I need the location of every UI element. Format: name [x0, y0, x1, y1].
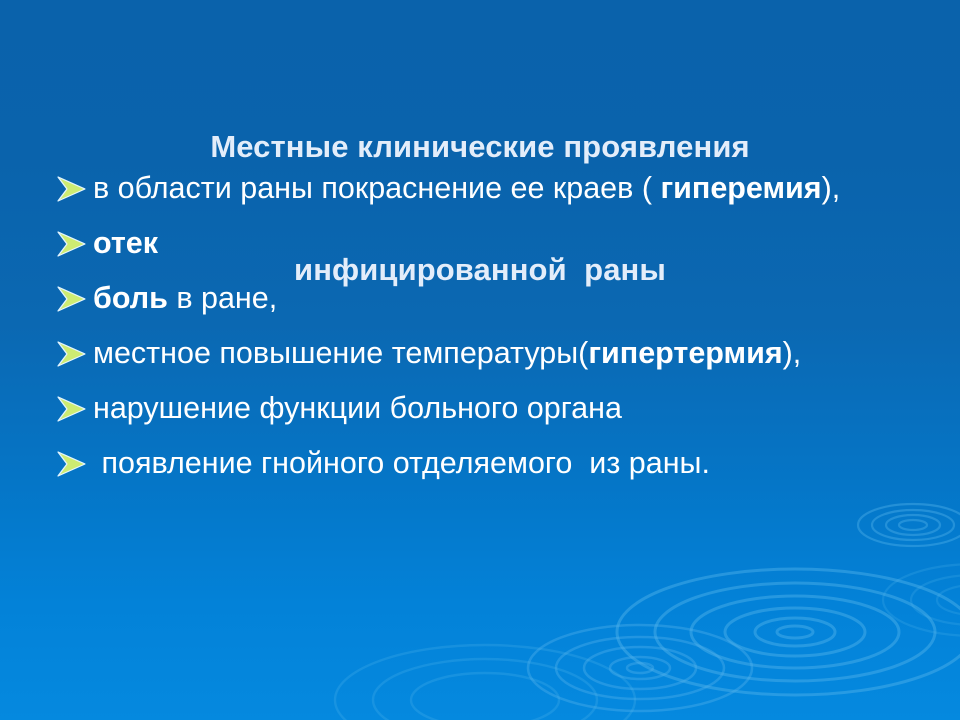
bullet-list-item: появление гнойного отделяемого из раны.: [46, 438, 921, 489]
bullet-emphasis-term: гипертермия: [588, 336, 782, 370]
bullet-list: в области раны покраснение ее краев ( ги…: [46, 163, 921, 493]
bullet-text-run: появление гнойного отделяемого из раны.: [93, 446, 710, 480]
bullet-text-run: в ране,: [168, 281, 277, 315]
bullet-text-run: местное повышение температуры(: [93, 336, 588, 370]
bullet-list-item: отек: [46, 218, 921, 269]
green-arrow-bullet-icon: [56, 175, 86, 203]
bullet-text-run: в области раны покраснение ее краев (: [93, 171, 660, 205]
green-arrow-bullet-icon: [56, 230, 86, 258]
bullet-item-text: местное повышение температуры(гипертерми…: [93, 328, 921, 379]
bullet-emphasis-term: отек: [93, 226, 158, 260]
bullet-text-run: нарушение функции больного органа: [93, 391, 622, 425]
green-arrow-bullet-icon: [56, 450, 86, 478]
bullet-item-text: боль в ране,: [93, 273, 921, 324]
bullet-item-text: отек: [93, 218, 921, 269]
bullet-item-text: нарушение функции больного органа: [93, 383, 921, 434]
bullet-emphasis-term: боль: [93, 281, 168, 315]
green-arrow-bullet-icon: [56, 395, 86, 423]
green-arrow-bullet-icon: [56, 285, 86, 313]
bullet-text-run: ),: [783, 336, 802, 370]
slide-title-line-1: Местные клинические проявления: [60, 126, 900, 167]
green-arrow-bullet-icon: [56, 340, 86, 368]
bullet-list-item: нарушение функции больного органа: [46, 383, 921, 434]
bullet-list-item: местное повышение температуры(гипертерми…: [46, 328, 921, 379]
bullet-item-text: в области раны покраснение ее краев ( ги…: [93, 163, 921, 214]
bullet-emphasis-term: гиперемия: [660, 171, 821, 205]
slide-canvas: Местные клинические проявления инфициров…: [0, 0, 960, 720]
bullet-item-text: появление гнойного отделяемого из раны.: [93, 438, 921, 489]
bullet-text-run: ),: [822, 171, 841, 205]
bullet-list-item: боль в ране,: [46, 273, 921, 324]
bullet-list-item: в области раны покраснение ее краев ( ги…: [46, 163, 921, 214]
